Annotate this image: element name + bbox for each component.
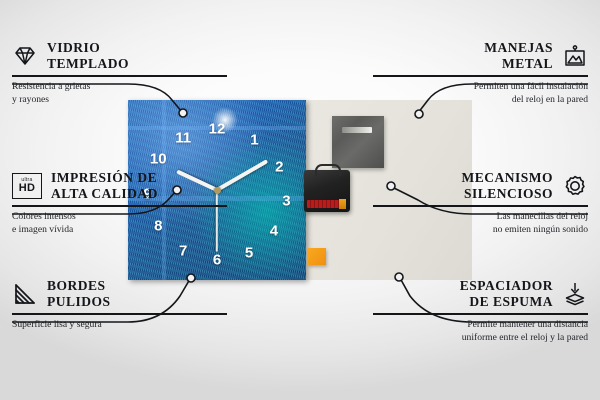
callout-description: Resistencia a grietasy rayones <box>12 77 227 106</box>
clock-numeral-2: 2 <box>275 159 283 174</box>
clock-numeral-4: 4 <box>270 224 278 239</box>
callout-description: Las manecillas del relojno emiten ningún… <box>373 207 588 236</box>
callout-mecanismo-silencioso[interactable]: MECANISMOSILENCIOSO Las manecillas del r… <box>373 170 588 236</box>
infographic-canvas: 12 1 2 3 4 5 6 7 8 9 10 11 <box>0 0 600 400</box>
clock-numeral-10: 10 <box>150 152 167 167</box>
callout-vidrio-templado[interactable]: VIDRIOTEMPLADO Resistencia a grietasy ra… <box>12 40 227 106</box>
clock-numeral-7: 7 <box>179 244 187 259</box>
diamond-icon <box>12 43 38 69</box>
callout-title: VIDRIOTEMPLADO <box>47 40 129 71</box>
callout-description: Superficie lisa y segura <box>12 315 227 332</box>
mechanism-chip <box>339 199 346 209</box>
callout-title: MECANISMOSILENCIOSO <box>462 170 554 201</box>
callout-espaciador-de-espuma[interactable]: ESPACIADORDE ESPUMA Permite mantener una… <box>373 278 588 344</box>
hanger-slot <box>342 127 372 133</box>
ultra-hd-icon: ultra HD <box>12 173 42 199</box>
callout-manejas-metal[interactable]: MANEJASMETAL Permiten una fácil instalac… <box>373 40 588 106</box>
gear-icon <box>562 173 588 199</box>
mechanism-handle <box>315 164 341 176</box>
metal-hanger-plate <box>332 116 384 168</box>
callout-description: Permite mantener una distanciauniforme e… <box>373 315 588 344</box>
clock-numeral-1: 1 <box>250 132 258 147</box>
callout-title: MANEJASMETAL <box>484 40 553 71</box>
callout-description: Permiten una fácil instalacióndel reloj … <box>373 77 588 106</box>
wall-hanging-icon <box>562 43 588 69</box>
callout-impresion-alta-calidad[interactable]: ultra HD IMPRESIÓN DEALTA CALIDAD Colore… <box>12 170 227 236</box>
mechanism-label-strip <box>307 200 343 208</box>
clock-mechanism <box>304 170 350 212</box>
clock-numeral-6: 6 <box>213 253 221 268</box>
callout-description: Colores intensose imagen vívida <box>12 207 227 236</box>
callout-title: IMPRESIÓN DEALTA CALIDAD <box>51 170 158 201</box>
callout-bordes-pulidos[interactable]: BORDESPULIDOS Superficie lisa y segura <box>12 278 227 332</box>
foam-spacer <box>308 248 326 265</box>
clock-numeral-3: 3 <box>282 193 290 208</box>
callout-title: BORDESPULIDOS <box>47 278 111 309</box>
callout-title: ESPACIADORDE ESPUMA <box>460 278 553 309</box>
clock-numeral-5: 5 <box>245 246 253 261</box>
polished-edges-icon <box>12 281 38 307</box>
clock-numeral-12: 12 <box>209 121 226 136</box>
clock-numeral-11: 11 <box>175 130 191 145</box>
foam-spacer-icon <box>562 281 588 307</box>
